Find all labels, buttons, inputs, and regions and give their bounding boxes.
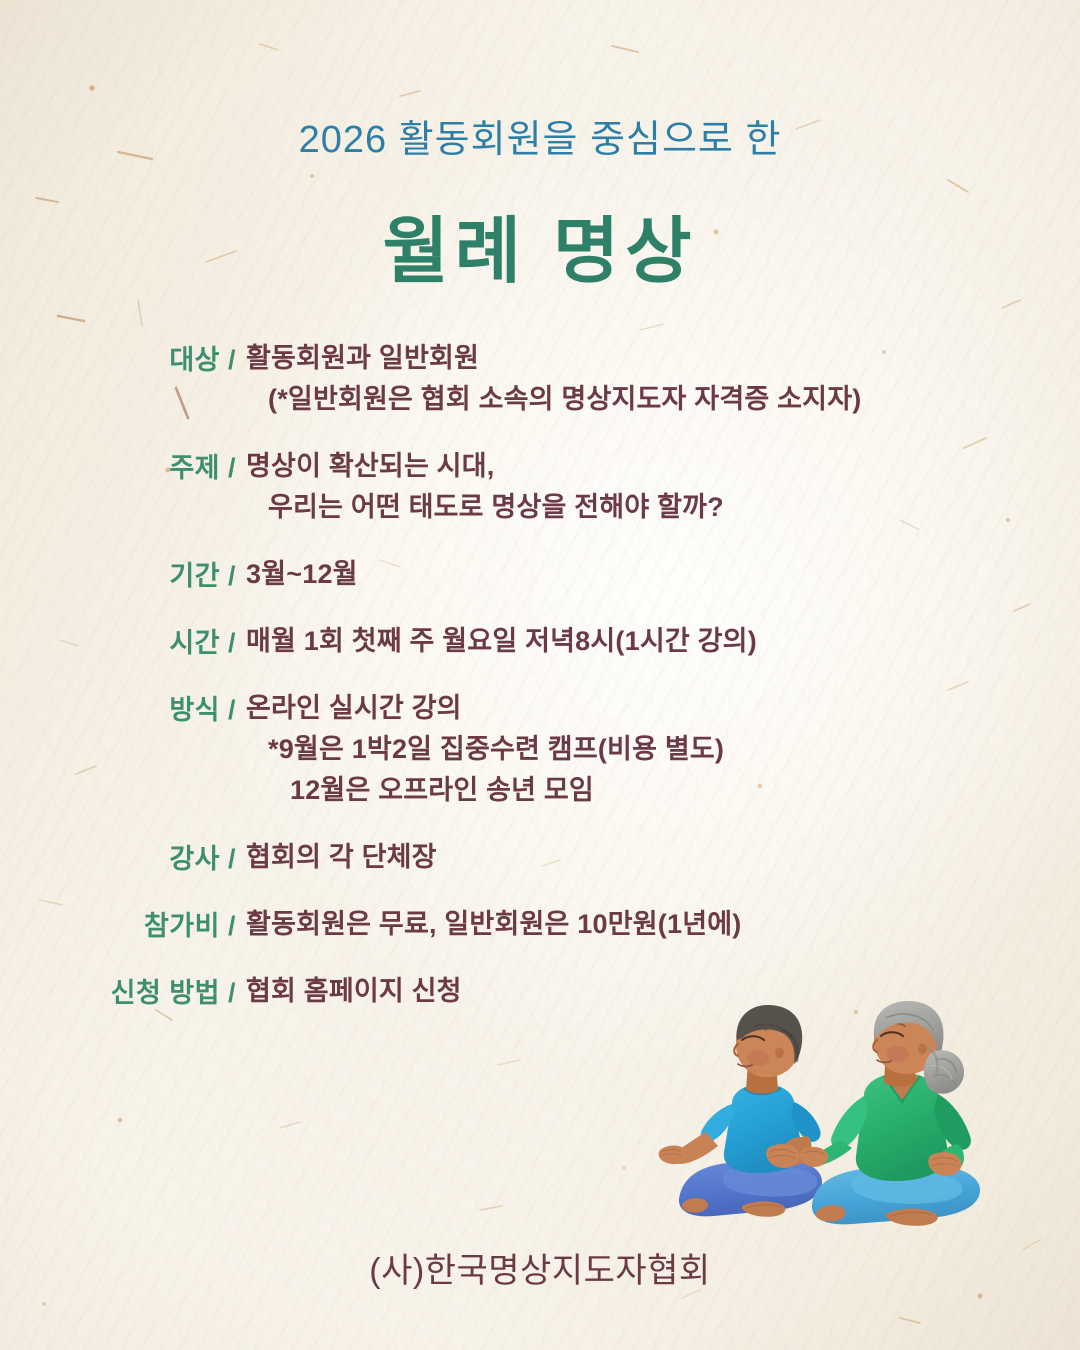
- info-row: 기간 /3월~12월: [0, 554, 1080, 595]
- poster-content: 2026 활동회원을 중심으로 한 월례 명상 대상 /활동회원과 일반회원(*…: [0, 0, 1080, 1350]
- info-value-line: 활동회원과 일반회원: [246, 338, 1080, 379]
- info-value-line: 우리는 어떤 태도로 명상을 전해야 할까?: [246, 487, 1080, 528]
- info-value-line: 3월~12월: [246, 554, 1080, 595]
- info-label: 기간 /: [0, 554, 236, 593]
- info-value-line: 명상이 확산되는 시대,: [246, 446, 1080, 487]
- woman-meditating: [800, 1001, 980, 1226]
- info-row: 대상 /활동회원과 일반회원(*일반회원은 협회 소속의 명상지도자 자격증 소…: [0, 338, 1080, 420]
- info-value-line: (*일반회원은 협회 소속의 명상지도자 자격증 소지자): [246, 379, 1080, 420]
- info-value-line: *9월은 1박2일 집중수련 캠프(비용 별도): [246, 729, 1080, 770]
- info-row: 방식 /온라인 실시간 강의*9월은 1박2일 집중수련 캠프(비용 별도)12…: [0, 688, 1080, 811]
- info-row: 시간 /매월 1회 첫째 주 월요일 저녁8시(1시간 강의): [0, 621, 1080, 662]
- info-label: 주제 /: [0, 446, 236, 485]
- program-info-list: 대상 /활동회원과 일반회원(*일반회원은 협회 소속의 명상지도자 자격증 소…: [0, 338, 1080, 1038]
- info-label: 대상 /: [0, 338, 236, 377]
- info-value: 온라인 실시간 강의*9월은 1박2일 집중수련 캠프(비용 별도)12월은 오…: [246, 688, 1080, 811]
- info-value: 명상이 확산되는 시대,우리는 어떤 태도로 명상을 전해야 할까?: [246, 446, 1080, 528]
- man-meditating: [659, 1005, 822, 1217]
- info-value-line: 협회의 각 단체장: [246, 837, 1080, 878]
- info-value: 활동회원은 무료, 일반회원은 10만원(1년에): [246, 904, 1080, 945]
- info-row: 강사 /협회의 각 단체장: [0, 837, 1080, 878]
- info-value: 활동회원과 일반회원(*일반회원은 협회 소속의 명상지도자 자격증 소지자): [246, 338, 1080, 420]
- info-value-line: 활동회원은 무료, 일반회원은 10만원(1년에): [246, 904, 1080, 945]
- info-value: 협회의 각 단체장: [246, 837, 1080, 878]
- info-label: 시간 /: [0, 621, 236, 660]
- poster-title: 월례 명상: [0, 192, 1080, 297]
- info-label: 신청 방법 /: [0, 971, 236, 1010]
- info-value: 3월~12월: [246, 554, 1080, 595]
- info-label: 강사 /: [0, 837, 236, 876]
- info-value-line: 12월은 오프라인 송년 모임: [246, 770, 1080, 811]
- two-people-meditating-illustration: [636, 1000, 1008, 1262]
- poster-subtitle: 2026 활동회원을 중심으로 한: [0, 108, 1080, 163]
- info-value-line: 온라인 실시간 강의: [246, 688, 1080, 729]
- info-value-line: 매월 1회 첫째 주 월요일 저녁8시(1시간 강의): [246, 621, 1080, 662]
- info-label: 참가비 /: [0, 904, 236, 943]
- info-row: 참가비 /활동회원은 무료, 일반회원은 10만원(1년에): [0, 904, 1080, 945]
- info-row: 주제 /명상이 확산되는 시대,우리는 어떤 태도로 명상을 전해야 할까?: [0, 446, 1080, 528]
- info-label: 방식 /: [0, 688, 236, 727]
- info-value: 매월 1회 첫째 주 월요일 저녁8시(1시간 강의): [246, 621, 1080, 662]
